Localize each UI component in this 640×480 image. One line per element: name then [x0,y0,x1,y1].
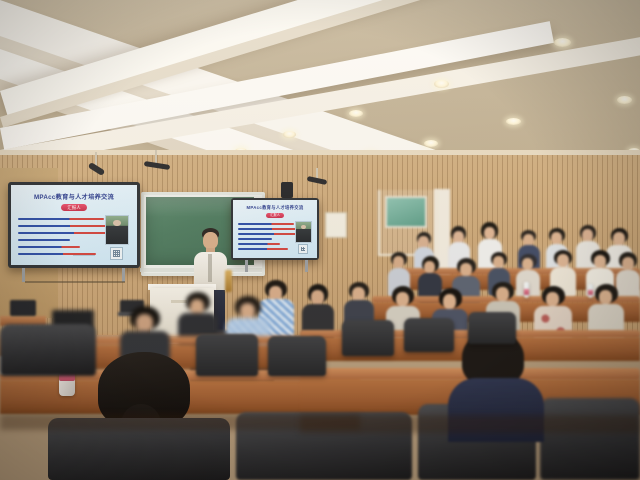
screen-mount-bracket [245,260,248,272]
slide-bullet [238,228,300,230]
slide-bullet [238,223,294,225]
speaker-head [203,232,218,249]
chair-back[interactable] [540,398,640,480]
slide-speaker-photo [105,215,129,245]
wall-speaker-icon [281,182,293,198]
chair-back[interactable] [468,312,516,344]
slide-badge: 汇报人 [61,204,87,211]
slide-footer [73,255,95,256]
downlight [506,118,521,125]
downlight [283,131,296,138]
chair-back[interactable] [268,336,326,376]
slide-bullet [18,239,70,241]
downlight [554,38,571,47]
chair-back[interactable] [196,334,258,376]
slide-bullet [18,225,113,227]
desk-shadow [300,415,640,433]
shirt-placket [208,254,212,282]
slide-title: MPAcc教育与人才培养交流 [34,192,114,201]
slide-badge-label: 汇报人 [61,204,87,211]
slide-badge-label-right: 汇报人 [266,213,284,218]
downlight [617,96,632,104]
slide-qr-code [110,247,123,260]
screen-mount-bracket [305,260,308,272]
slide-bullet [18,246,80,248]
chair-back[interactable] [404,318,454,352]
right-slide: MPAcc教育与人才培养交流 汇报人 [233,200,317,258]
slide-speaker-photo-right [295,221,312,243]
slide-qr-code-right [298,244,308,254]
downlight [349,110,363,117]
downlight [424,140,438,147]
slide-bullet [238,238,272,240]
wall-mounted-green-display [385,196,427,228]
front-monitor [10,300,36,316]
slide-badge-right: 汇报人 [266,213,284,218]
slide-title-right: MPAcc教育与人才培养交流 [247,205,304,211]
slide-bullet [18,232,108,234]
screen-mount-bracket [122,268,125,282]
screen-mount-bracket [22,268,25,282]
audience-person [120,306,170,356]
chair-back[interactable] [342,320,394,356]
water-bottle [524,282,529,298]
lecture-hall-photo: MPAcc教育与人才培养交流 汇报人 MPAcc教育与人才培养交流 汇报人 [0,0,640,480]
left-projection-screen[interactable]: MPAcc教育与人才培养交流 汇报人 [8,182,140,268]
slide-bullet [18,218,104,220]
slide-bullet [238,233,296,235]
wall-notice-frame [325,212,347,238]
downlight [434,80,449,88]
gold-trophy-icon [225,270,232,292]
screen-cable [25,281,125,283]
right-projection-screen[interactable]: MPAcc教育与人才培养交流 汇报人 [231,198,319,260]
slide-bullet [238,248,288,250]
slide-bullet [238,243,280,245]
left-slide: MPAcc教育与人才培养交流 汇报人 [11,185,137,265]
